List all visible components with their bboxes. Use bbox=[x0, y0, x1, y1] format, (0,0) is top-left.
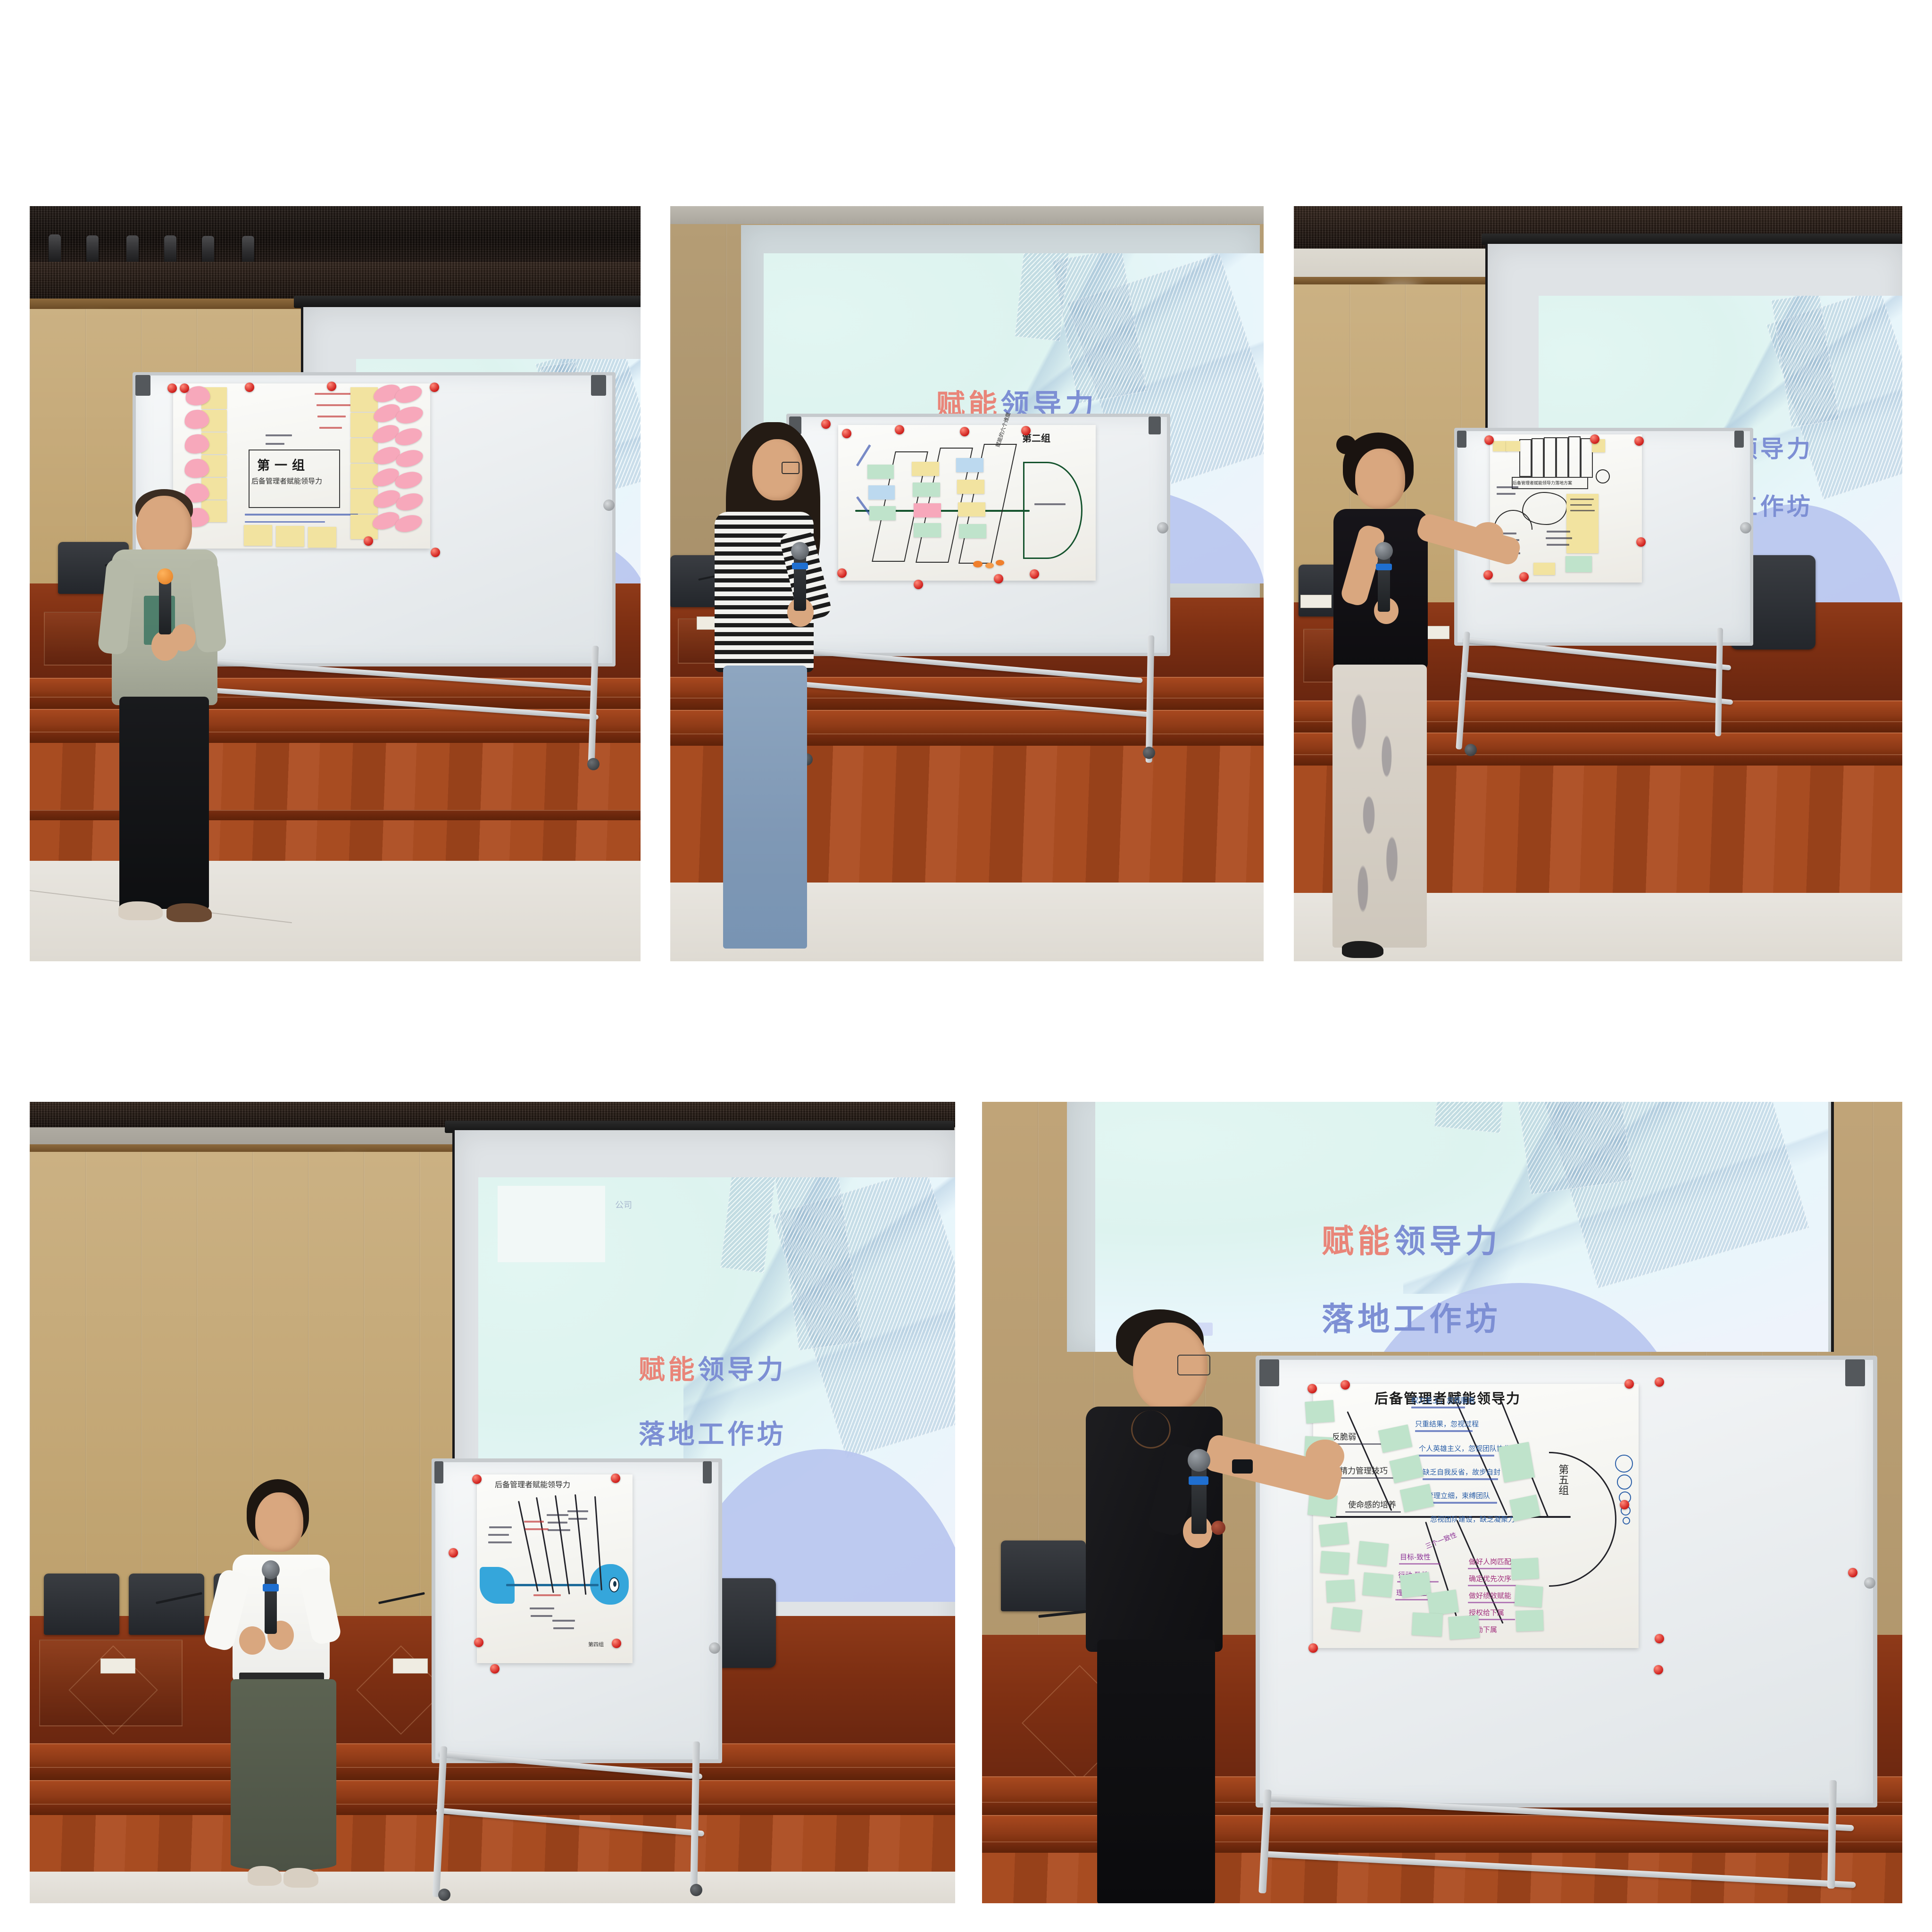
magnet bbox=[612, 1639, 621, 1648]
magnet bbox=[1021, 426, 1031, 435]
fishbone-head bbox=[1023, 462, 1083, 559]
whiteboard: 后备管理者赋能领导力 第五组 反脆弱 精力管理技巧 bbox=[1256, 1356, 1869, 1893]
microphone-head bbox=[1188, 1449, 1210, 1472]
poster-title-text: 后备管理者赋能领导力 bbox=[495, 1478, 570, 1490]
magnet bbox=[1341, 1380, 1350, 1390]
photo-top-right: 赋能领导力 落地工作坊 bbox=[1294, 206, 1902, 961]
magnet bbox=[1624, 1379, 1634, 1389]
microphone bbox=[1191, 1463, 1207, 1534]
photo-bottom-left: 公司 赋能领导力 落地工作坊 主讲：陈维振 bbox=[30, 1102, 955, 1903]
magnet bbox=[1590, 434, 1599, 444]
bone-label: 只重结果，忽视过程 bbox=[1415, 1419, 1479, 1429]
speaker-person bbox=[707, 422, 872, 960]
bone-label: 忽视团队建设，缺乏凝聚力 bbox=[1430, 1514, 1515, 1524]
magnet bbox=[1620, 1500, 1629, 1509]
bone-label: 管理立细，束缚团队 bbox=[1426, 1491, 1490, 1500]
microphone bbox=[265, 1574, 277, 1634]
bone-label: 确定优先次序 bbox=[1469, 1574, 1511, 1583]
slide-title-line2: 落地工作坊 bbox=[639, 1419, 787, 1449]
photo-top-left: 赋能领导力 落地工作坊 主讲：陈维振 bbox=[30, 206, 641, 961]
speaker-head bbox=[1355, 449, 1405, 509]
speaker-person bbox=[212, 1479, 410, 1903]
group-poster: 后备管理者赋能领导力 第五组 反脆弱 精力管理技巧 bbox=[1313, 1384, 1639, 1648]
photo-top-center: 赋能领导力 落地工作坊 bbox=[670, 206, 1264, 961]
photo-bottom-right: 赋能领导力 落地工作坊 bbox=[982, 1102, 1902, 1903]
speaker-legs bbox=[1097, 1640, 1215, 1903]
magnet bbox=[1636, 537, 1646, 547]
speaker-person bbox=[1076, 1309, 1322, 1903]
magnet bbox=[611, 1474, 620, 1483]
microphone-head bbox=[262, 1560, 280, 1579]
poster-group-label: 第五组 bbox=[1555, 1464, 1571, 1495]
microphone-head bbox=[791, 542, 809, 560]
poster-group-label: 第一组 bbox=[257, 455, 309, 474]
poster-title-text: 后备管理者赋能领导力 bbox=[251, 476, 322, 486]
microphone bbox=[159, 578, 171, 634]
magnet bbox=[472, 1474, 482, 1484]
microphone bbox=[1378, 553, 1390, 612]
magnet bbox=[431, 548, 440, 557]
magnet bbox=[364, 536, 373, 546]
magnet bbox=[430, 383, 439, 392]
slide-title-line2: 落地工作坊 bbox=[1322, 1301, 1501, 1337]
bone-label: 个人英雄主义，忽视团队协作 bbox=[1419, 1443, 1511, 1453]
microphone-head bbox=[157, 568, 173, 584]
speaker-skirt bbox=[231, 1679, 336, 1871]
bone-label: 目标-致性 bbox=[1400, 1552, 1431, 1562]
speaker-person bbox=[1317, 433, 1506, 961]
magnet bbox=[895, 425, 904, 434]
group-poster: 第二组 赋能的六个维度 bbox=[838, 425, 1096, 581]
slide-title-highlight: 赋能 bbox=[639, 1355, 698, 1384]
magnet bbox=[1519, 572, 1529, 582]
magnet bbox=[914, 580, 923, 589]
photo-collage: 赋能领导力 落地工作坊 主讲：陈维振 bbox=[0, 0, 1932, 1932]
magnet bbox=[1030, 569, 1039, 579]
speaker-legs bbox=[723, 666, 807, 949]
bone-label: 使命感的培养 bbox=[1348, 1498, 1396, 1510]
magnet bbox=[1655, 1377, 1664, 1387]
poster-group-label: 第四组 bbox=[588, 1641, 604, 1648]
speaker-legs bbox=[119, 697, 209, 909]
speaker-head bbox=[255, 1492, 303, 1552]
magnet bbox=[167, 383, 177, 393]
microphone-head bbox=[1375, 542, 1393, 560]
speaker-person bbox=[100, 489, 270, 961]
slide-corp-label: 公司 bbox=[615, 1199, 632, 1211]
bone-label: 精力管理技巧 bbox=[1340, 1464, 1388, 1476]
slide-title-rest: 领导力 bbox=[698, 1355, 786, 1384]
magnet bbox=[474, 1638, 483, 1647]
slide-title-highlight: 赋能 bbox=[1322, 1224, 1393, 1259]
magnet bbox=[245, 383, 254, 392]
magnet bbox=[180, 383, 189, 393]
bone-label: 反脆弱 bbox=[1332, 1430, 1356, 1442]
magnet bbox=[1655, 1634, 1664, 1643]
whiteboard: 后备管理者赋能领导力 bbox=[432, 1458, 715, 1902]
bone-label: 做好人岗匹配 bbox=[1469, 1557, 1511, 1566]
bone-label: 权力至上，忽视服务 bbox=[1411, 1395, 1475, 1405]
microphone bbox=[794, 553, 806, 611]
group-poster: 后备管理者赋能领导力 bbox=[477, 1474, 633, 1663]
magnet bbox=[994, 574, 1003, 583]
eyeglasses bbox=[1177, 1355, 1210, 1375]
magnet bbox=[490, 1664, 500, 1674]
magnet bbox=[1654, 1665, 1663, 1674]
magnet bbox=[1848, 1568, 1857, 1577]
magnet bbox=[327, 382, 336, 391]
slide-title-rest: 领导力 bbox=[1393, 1224, 1501, 1259]
bone-label: 做好绩效赋能 bbox=[1469, 1591, 1511, 1600]
magnet bbox=[1634, 436, 1644, 446]
magnet bbox=[960, 427, 969, 436]
magnet bbox=[449, 1548, 458, 1557]
bone-label: 缺乏自我反省，故步自封 bbox=[1423, 1467, 1500, 1477]
